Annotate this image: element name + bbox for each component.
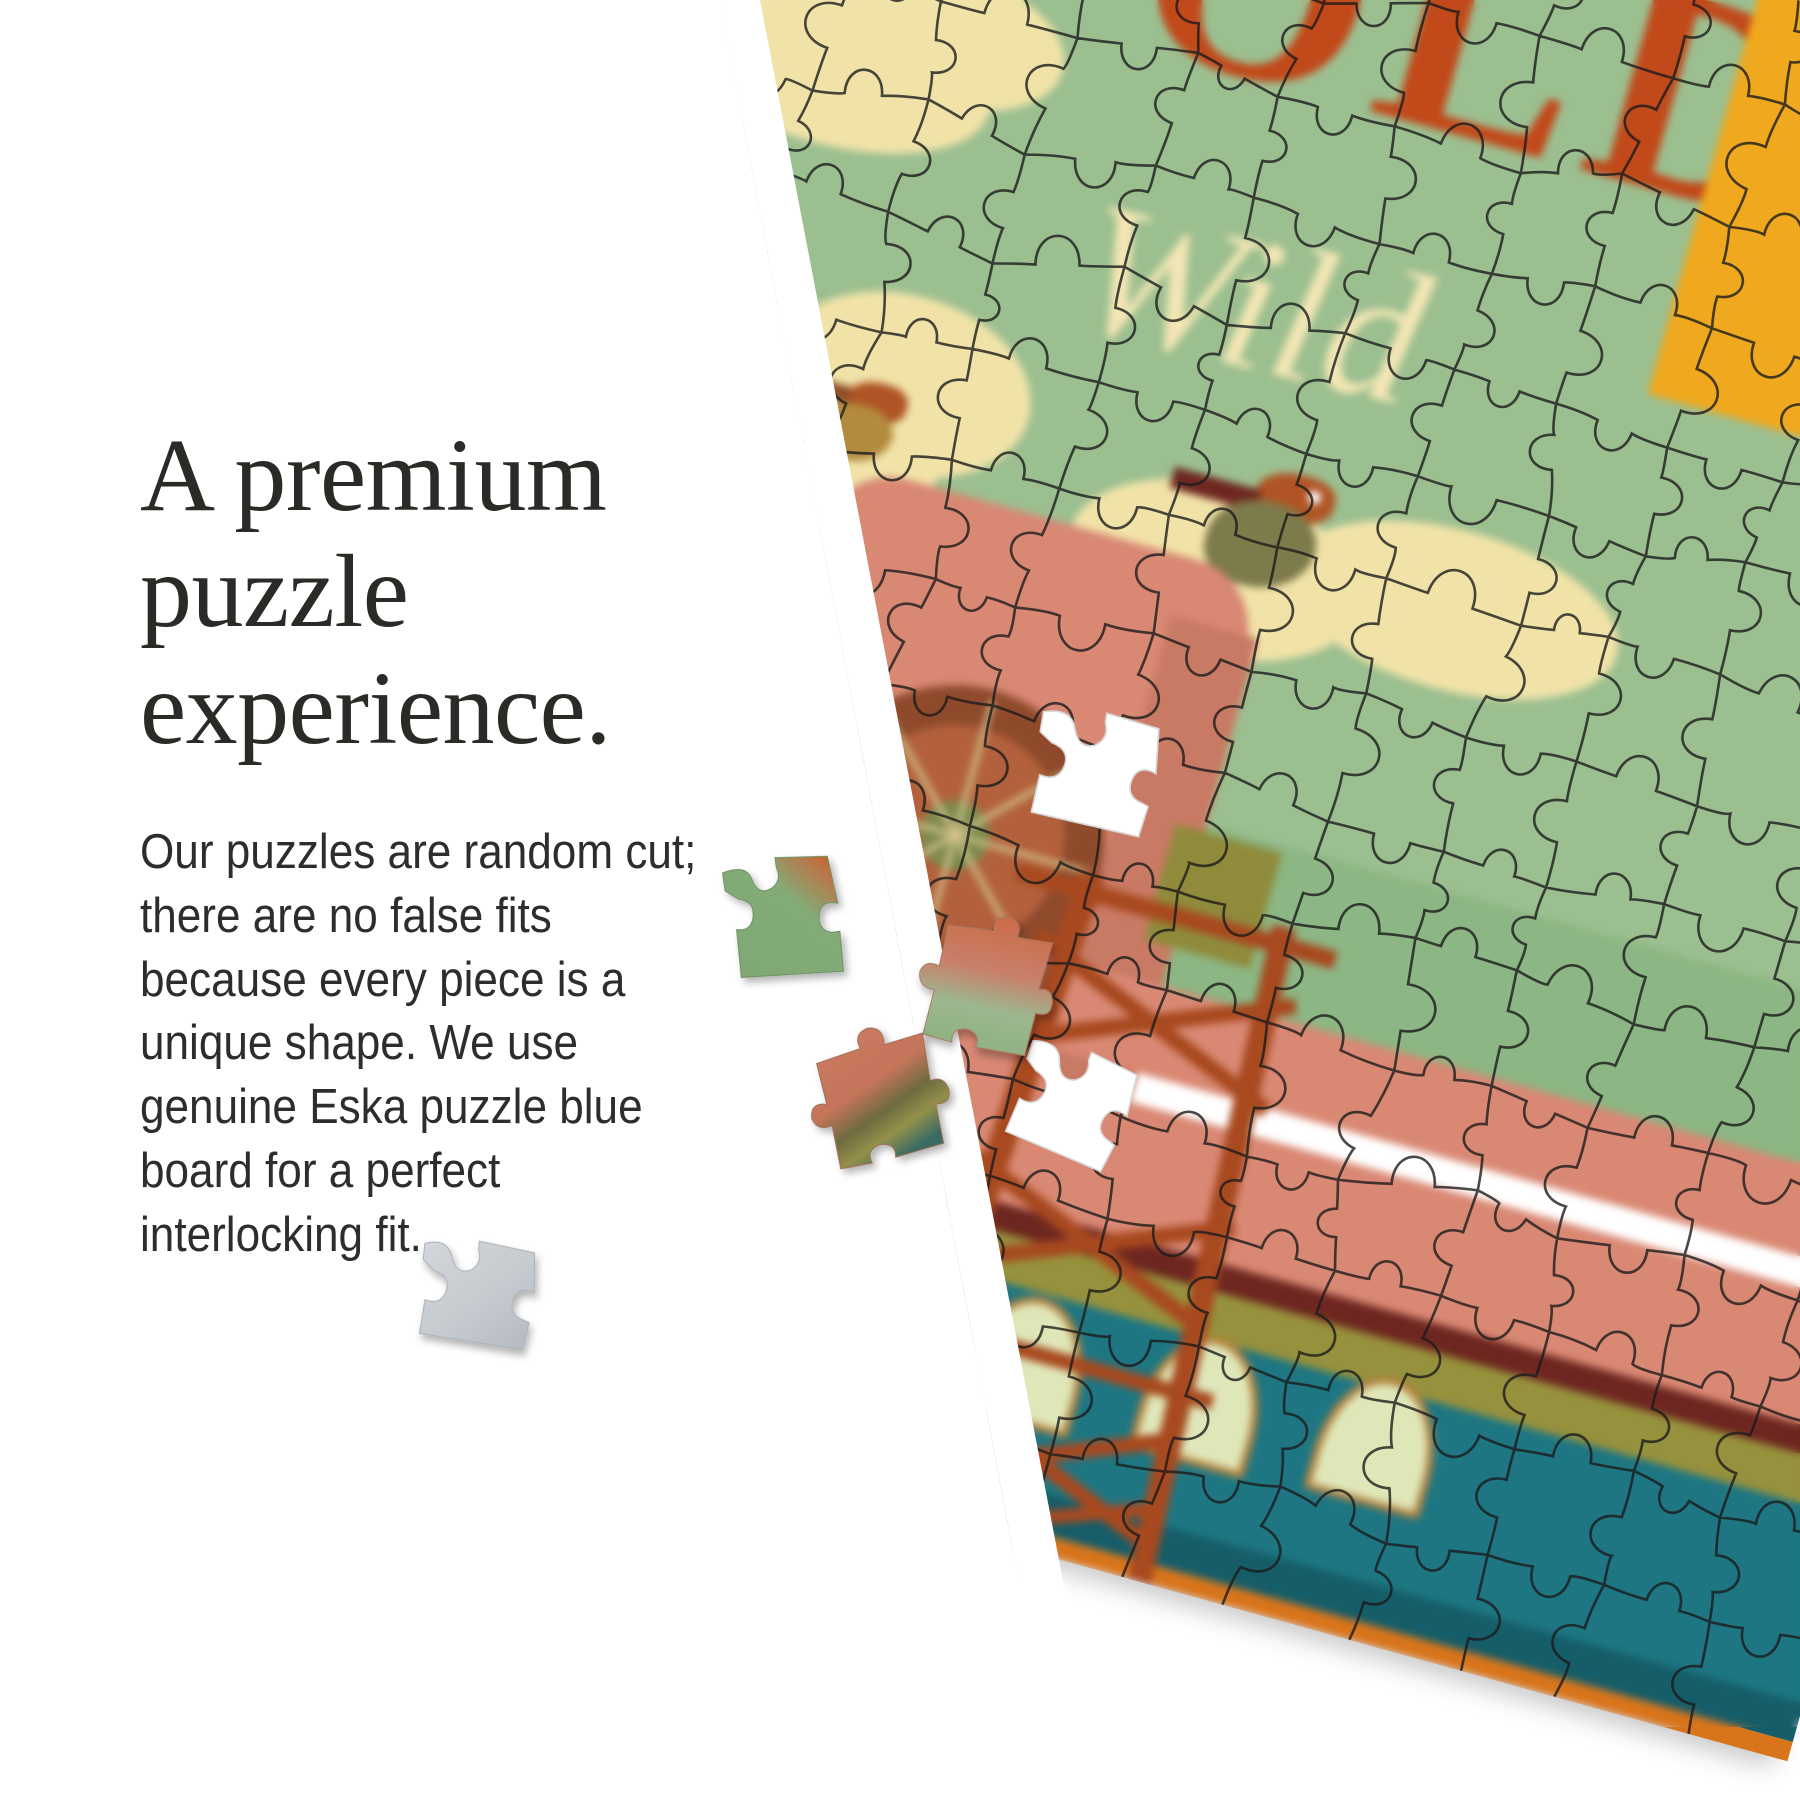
page-title: A premium puzzle experience. [140,418,720,767]
loose-piece-salmon-green[interactable] [907,902,1068,1061]
body-copy: Our puzzles are random cut; there are no… [140,821,716,1267]
promo-canvas: OLD Wild [0,0,1800,1800]
marketing-copy-block: A premium puzzle experience. Our puzzles… [140,418,720,1267]
loose-piece-green-orange[interactable] [721,850,847,986]
